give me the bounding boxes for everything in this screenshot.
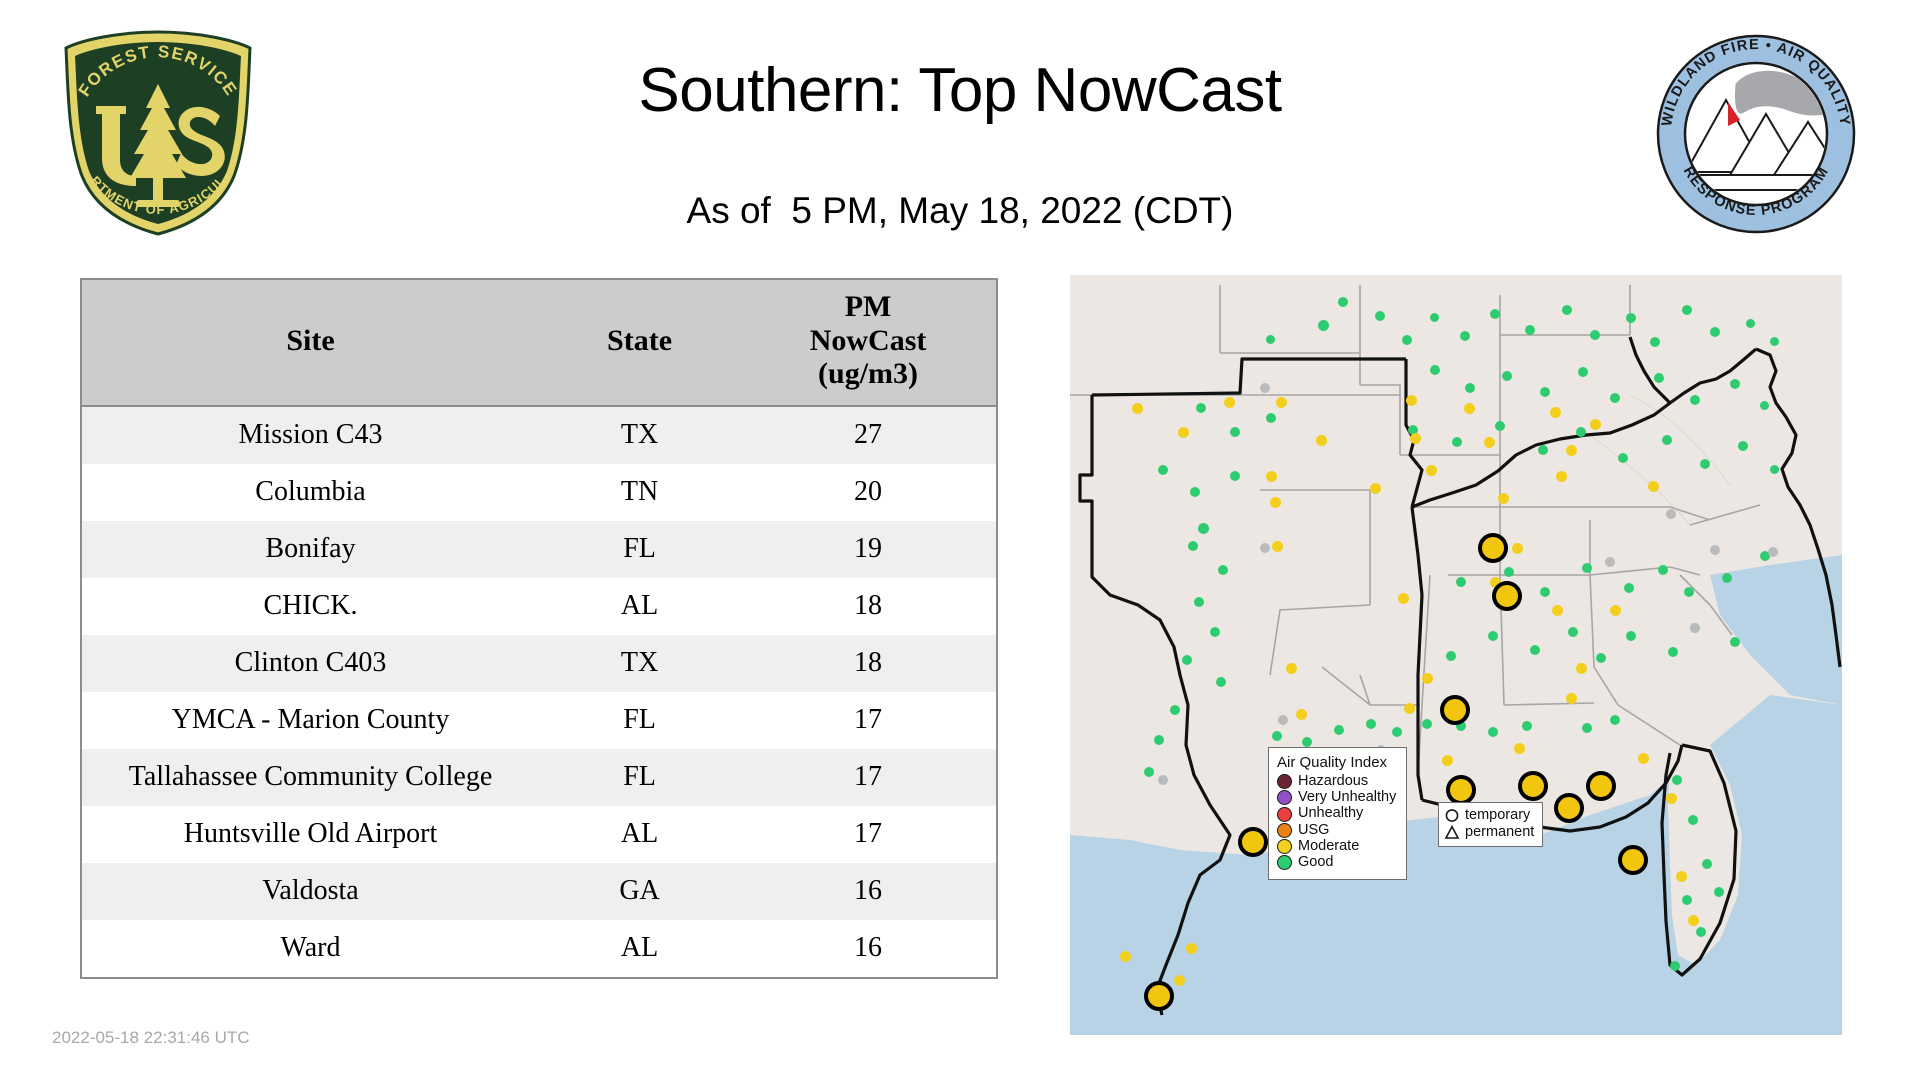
cell-pm: 18: [740, 578, 996, 635]
map-dot-moderate: [1610, 605, 1621, 616]
map-dot-good: [1266, 335, 1275, 344]
cell-state: GA: [539, 863, 740, 920]
map-dot-good: [1230, 471, 1240, 481]
map-dot-good: [1696, 927, 1706, 937]
map-dot-good: [1582, 723, 1592, 733]
aqi-legend-label: Unhealthy: [1298, 806, 1363, 821]
column-header-site: Site: [82, 280, 539, 406]
page-title: Southern: Top NowCast: [260, 55, 1660, 126]
map-dot-moderate: [1552, 605, 1563, 616]
map-dot-moderate: [1286, 663, 1297, 674]
cell-pm: 17: [740, 806, 996, 863]
map-dot-moderate: [1498, 493, 1509, 504]
map-dot-good: [1578, 367, 1588, 377]
aqi-legend-item: Very Unhealthy: [1277, 790, 1396, 805]
map-dot-moderate: [1174, 975, 1185, 986]
map-dot-moderate: [1296, 709, 1307, 720]
map-dot-good: [1682, 305, 1692, 315]
map-dot-good: [1495, 421, 1505, 431]
map-dot-good: [1196, 403, 1206, 413]
map-dot-good: [1540, 387, 1550, 397]
map-highlight-site[interactable]: [1446, 775, 1476, 805]
table-row: ColumbiaTN20: [82, 464, 996, 521]
map-dot-good: [1770, 465, 1779, 474]
map-dot-good: [1576, 427, 1586, 437]
map-dot-moderate: [1426, 465, 1437, 476]
table-row: CHICK.AL18: [82, 578, 996, 635]
map-dot-good: [1690, 395, 1700, 405]
map-dot-moderate: [1404, 703, 1415, 714]
cell-site: CHICK.: [82, 578, 539, 635]
site-class-temporary-label: temporary: [1465, 807, 1530, 823]
map-dot-moderate: [1276, 397, 1287, 408]
column-header-state: State: [539, 280, 740, 406]
map-dot-moderate: [1120, 951, 1131, 962]
map-dot-good: [1672, 775, 1682, 785]
map-dot-moderate: [1590, 419, 1601, 430]
cell-state: FL: [539, 692, 740, 749]
cell-pm: 17: [740, 692, 996, 749]
cell-state: AL: [539, 806, 740, 863]
map-dot-good: [1488, 727, 1498, 737]
map-dot-good: [1730, 379, 1740, 389]
map-dot-good: [1188, 541, 1198, 551]
map-dot-moderate: [1512, 543, 1523, 554]
map-dot-moderate: [1576, 663, 1587, 674]
map-dot-nodata: [1690, 623, 1700, 633]
cell-site: Mission C43: [82, 406, 539, 464]
map-dot-good: [1392, 727, 1402, 737]
map-highlight-site[interactable]: [1618, 845, 1648, 875]
table-header-row: Site State PM NowCast (ug/m3): [82, 280, 996, 406]
map-dot-good: [1658, 565, 1668, 575]
map-dot-moderate: [1186, 943, 1197, 954]
map-dot-good: [1430, 365, 1440, 375]
aqi-legend-item: Hazardous: [1277, 774, 1396, 789]
cell-state: TX: [539, 406, 740, 464]
map-highlight-site[interactable]: [1440, 695, 1470, 725]
map-dot-good: [1700, 459, 1710, 469]
aqi-legend-item: Unhealthy: [1277, 806, 1396, 821]
map-dot-nodata: [1710, 545, 1720, 555]
site-class-permanent: permanent: [1444, 824, 1534, 841]
map-dot-good: [1504, 567, 1514, 577]
map-dot-nodata: [1666, 509, 1676, 519]
map-highlight-site[interactable]: [1492, 581, 1522, 611]
map-dot-good: [1402, 335, 1412, 345]
cell-pm: 20: [740, 464, 996, 521]
map-dot-good: [1626, 631, 1636, 641]
column-header-pm-line1: PM: [740, 290, 996, 324]
cell-site: Tallahassee Community College: [82, 749, 539, 806]
map-dot-good: [1190, 487, 1200, 497]
aqi-legend-swatch: [1277, 807, 1292, 822]
map-dot-moderate: [1556, 471, 1567, 482]
table-row: ValdostaGA16: [82, 863, 996, 920]
map-dot-nodata: [1260, 543, 1270, 553]
map-dot-good: [1760, 401, 1769, 410]
aqi-legend-label: Good: [1298, 855, 1333, 870]
map-dot-moderate: [1566, 693, 1577, 704]
aqi-legend-label: Very Unhealthy: [1298, 790, 1396, 805]
map-dot-good: [1714, 887, 1724, 897]
map-dot-good: [1710, 327, 1720, 337]
cell-state: AL: [539, 578, 740, 635]
table-row: BonifayFL19: [82, 521, 996, 578]
table-row: Mission C43TX27: [82, 406, 996, 464]
map-dot-good: [1430, 313, 1439, 322]
map-dot-good: [1198, 523, 1209, 534]
column-header-pm-line2: NowCast: [740, 324, 996, 358]
cell-site: YMCA - Marion County: [82, 692, 539, 749]
site-class-legend: temporary permanent: [1438, 802, 1543, 847]
air-quality-map[interactable]: Air Quality Index HazardousVery Unhealth…: [1070, 275, 1842, 1035]
map-dot-good: [1422, 719, 1432, 729]
map-dot-moderate: [1270, 497, 1281, 508]
map-dot-good: [1522, 721, 1532, 731]
cell-state: AL: [539, 920, 740, 977]
map-dot-good: [1338, 297, 1348, 307]
map-dot-good: [1158, 465, 1168, 475]
page-subtitle: As of 5 PM, May 18, 2022 (CDT): [260, 190, 1660, 232]
aqi-legend-item: USG: [1277, 823, 1396, 838]
map-dot-good: [1530, 645, 1540, 655]
map-dot-moderate: [1370, 483, 1381, 494]
map-dot-moderate: [1178, 427, 1189, 438]
map-highlight-site[interactable]: [1478, 533, 1508, 563]
map-dot-moderate: [1410, 433, 1421, 444]
column-header-pm-line3: (ug/m3): [740, 357, 996, 391]
map-dot-good: [1460, 331, 1470, 341]
aqi-legend-item: Good: [1277, 855, 1396, 870]
map-dot-moderate: [1442, 755, 1453, 766]
site-class-temporary: temporary: [1444, 807, 1534, 824]
map-highlight-site[interactable]: [1144, 981, 1174, 1011]
wildland-fire-air-quality-seal-icon: WILDLAND FIRE • AIR QUALITY RESPONSE PRO…: [1652, 32, 1860, 237]
map-dot-good: [1502, 371, 1512, 381]
aqi-legend-label: Moderate: [1298, 839, 1359, 854]
map-dot-good: [1746, 319, 1755, 328]
cell-site: Columbia: [82, 464, 539, 521]
map-dot-good: [1722, 573, 1732, 583]
cell-pm: 19: [740, 521, 996, 578]
aqi-legend-item: Moderate: [1277, 839, 1396, 854]
map-dot-moderate: [1406, 395, 1417, 406]
map-dot-good: [1610, 393, 1620, 403]
map-dot-nodata: [1158, 775, 1168, 785]
map-dot-moderate: [1132, 403, 1143, 414]
map-dot-good: [1540, 587, 1550, 597]
map-dot-good: [1154, 735, 1164, 745]
map-dot-nodata: [1768, 547, 1778, 557]
top-nowcast-table: Site State PM NowCast (ug/m3) Mission C4…: [80, 278, 998, 979]
map-dot-good: [1446, 651, 1456, 661]
map-dot-good: [1210, 627, 1220, 637]
table-row: WardAL16: [82, 920, 996, 977]
column-header-pm-nowcast: PM NowCast (ug/m3): [740, 280, 996, 406]
cell-site: Valdosta: [82, 863, 539, 920]
map-dot-good: [1624, 583, 1634, 593]
map-dot-good: [1525, 325, 1535, 335]
map-dot-moderate: [1266, 471, 1277, 482]
cell-pm: 16: [740, 863, 996, 920]
map-dot-good: [1568, 627, 1578, 637]
map-dot-good: [1626, 313, 1636, 323]
map-dot-good: [1688, 815, 1698, 825]
aqi-legend-label: Hazardous: [1298, 774, 1368, 789]
cell-pm: 17: [740, 749, 996, 806]
map-dot-good: [1562, 305, 1572, 315]
map-dot-moderate: [1638, 753, 1649, 764]
map-dot-good: [1770, 337, 1779, 346]
permanent-triangle-icon: [1444, 824, 1460, 841]
map-highlight-site[interactable]: [1518, 771, 1548, 801]
cell-site: Ward: [82, 920, 539, 977]
map-dot-good: [1452, 437, 1462, 447]
map-dot-good: [1684, 587, 1694, 597]
map-dot-good: [1375, 311, 1385, 321]
aqi-legend-label: USG: [1298, 823, 1329, 838]
map-dot-moderate: [1514, 743, 1525, 754]
aqi-legend-swatch: [1277, 823, 1292, 838]
map-dot-good: [1318, 320, 1329, 331]
map-highlight-site[interactable]: [1586, 771, 1616, 801]
map-dot-moderate: [1648, 481, 1659, 492]
map-dot-good: [1170, 705, 1180, 715]
map-highlight-site[interactable]: [1238, 827, 1268, 857]
map-dot-good: [1216, 677, 1226, 687]
aqi-legend-swatch: [1277, 855, 1292, 870]
map-dot-good: [1182, 655, 1192, 665]
cell-state: FL: [539, 521, 740, 578]
map-dot-good: [1668, 647, 1678, 657]
map-dot-good: [1582, 563, 1592, 573]
map-dot-nodata: [1605, 557, 1615, 567]
map-dot-moderate: [1688, 915, 1699, 926]
aqi-legend-swatch: [1277, 774, 1292, 789]
map-dot-good: [1650, 337, 1660, 347]
map-dot-moderate: [1464, 403, 1475, 414]
table-row: Huntsville Old AirportAL17: [82, 806, 996, 863]
map-dot-good: [1465, 383, 1475, 393]
map-dot-good: [1366, 719, 1376, 729]
map-dot-moderate: [1666, 793, 1677, 804]
cell-pm: 16: [740, 920, 996, 977]
map-dot-moderate: [1566, 445, 1577, 456]
map-dot-good: [1538, 445, 1548, 455]
map-dot-good: [1456, 577, 1466, 587]
cell-state: TN: [539, 464, 740, 521]
cell-pm: 18: [740, 635, 996, 692]
table-row: Tallahassee Community CollegeFL17: [82, 749, 996, 806]
aqi-legend-swatch: [1277, 839, 1292, 854]
map-dot-good: [1218, 565, 1228, 575]
map-dot-moderate: [1676, 871, 1687, 882]
map-dot-moderate: [1316, 435, 1327, 446]
site-class-permanent-label: permanent: [1465, 824, 1534, 840]
map-dot-good: [1662, 435, 1672, 445]
map-dot-moderate: [1550, 407, 1561, 418]
usda-forest-service-shield-icon: FOREST SERVICE DEPARTMENT OF AGRICULTURE: [58, 28, 258, 238]
cell-site: Clinton C403: [82, 635, 539, 692]
aqi-legend-title: Air Quality Index: [1277, 754, 1396, 771]
aqi-legend-swatch: [1277, 790, 1292, 805]
cell-site: Huntsville Old Airport: [82, 806, 539, 863]
generation-timestamp: 2022-05-18 22:31:46 UTC: [52, 1028, 250, 1048]
map-dot-good: [1334, 725, 1344, 735]
map-dot-good: [1488, 631, 1498, 641]
map-highlight-site[interactable]: [1554, 793, 1584, 823]
map-dot-good: [1230, 427, 1240, 437]
map-dot-good: [1490, 309, 1500, 319]
cell-site: Bonifay: [82, 521, 539, 578]
map-dot-good: [1618, 453, 1628, 463]
map-dot-good: [1682, 895, 1692, 905]
map-dot-good: [1730, 637, 1740, 647]
map-dot-good: [1272, 731, 1282, 741]
aqi-legend: Air Quality Index HazardousVery Unhealth…: [1268, 747, 1407, 880]
cell-state: FL: [539, 749, 740, 806]
map-dot-moderate: [1398, 593, 1409, 604]
map-dot-nodata: [1260, 383, 1270, 393]
map-dot-good: [1596, 653, 1606, 663]
map-dot-good: [1738, 441, 1748, 451]
map-dot-moderate: [1484, 437, 1495, 448]
cell-state: TX: [539, 635, 740, 692]
map-dot-good: [1144, 767, 1154, 777]
map-dot-good: [1610, 715, 1620, 725]
temporary-circle-icon: [1444, 807, 1460, 824]
map-dot-good: [1702, 859, 1712, 869]
cell-pm: 27: [740, 406, 996, 464]
table-row: YMCA - Marion CountyFL17: [82, 692, 996, 749]
map-dot-good: [1590, 330, 1600, 340]
map-dot-moderate: [1272, 541, 1283, 552]
map-dot-moderate: [1422, 673, 1433, 684]
map-dot-nodata: [1278, 715, 1288, 725]
map-dot-good: [1266, 413, 1276, 423]
map-dot-moderate: [1224, 397, 1235, 408]
slide-root: FOREST SERVICE DEPARTMENT OF AGRICULTURE…: [0, 0, 1920, 1080]
map-dot-good: [1302, 737, 1312, 747]
map-dot-good: [1194, 597, 1204, 607]
table-row: Clinton C403TX18: [82, 635, 996, 692]
map-dot-good: [1654, 373, 1664, 383]
map-dot-good: [1670, 961, 1680, 971]
